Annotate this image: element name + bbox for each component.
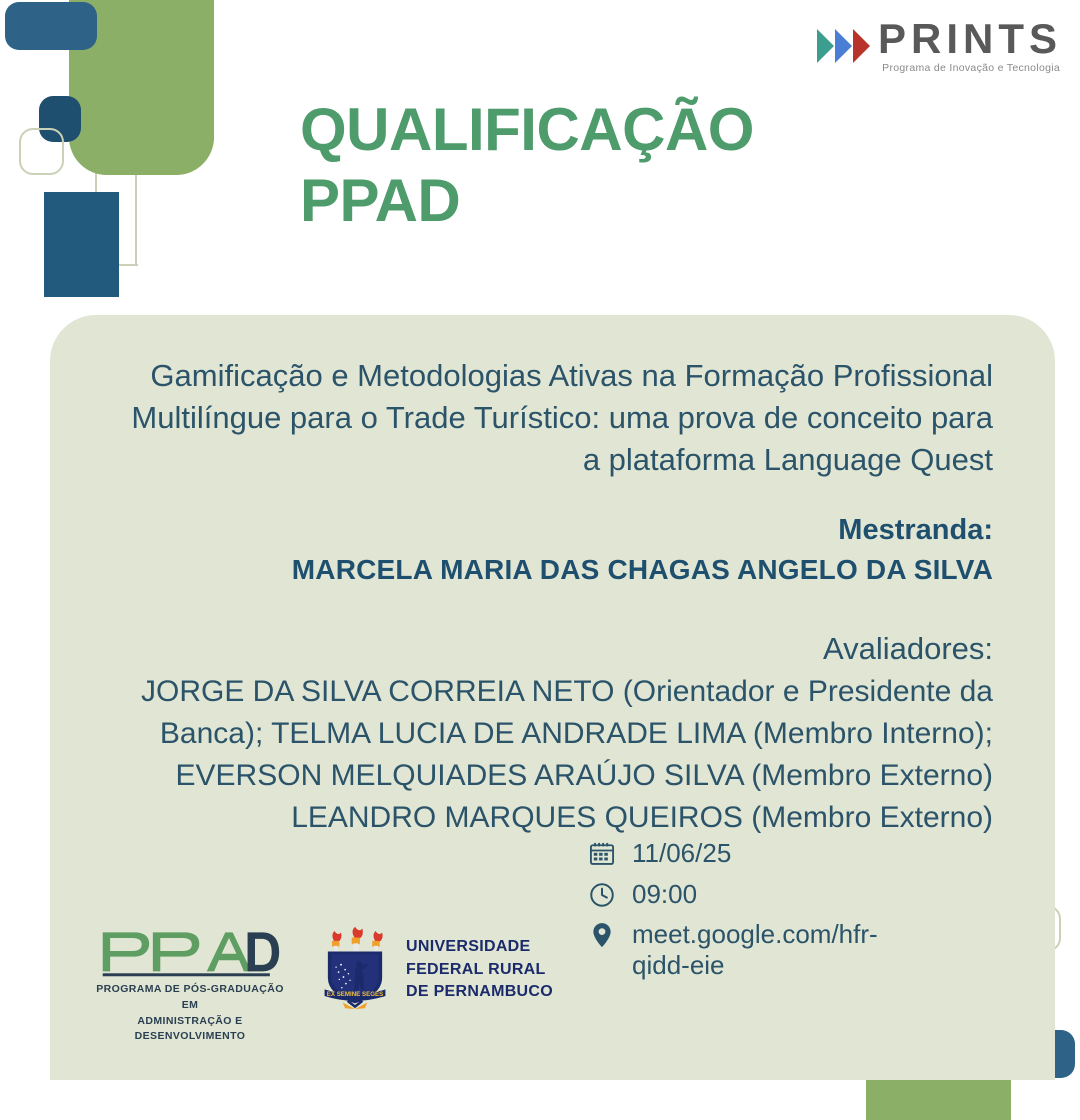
connector-line [135, 172, 137, 266]
navy-square [39, 96, 81, 142]
connector-line [98, 0, 100, 34]
connector-line [118, 264, 138, 266]
svg-text:EX SEMINE SEGES: EX SEMINE SEGES [327, 991, 383, 998]
page-title: QUALIFICAÇÃO PPAD [300, 95, 754, 237]
blue-tall-rect [44, 192, 119, 297]
ppad-logomark [90, 925, 290, 977]
detail-row-location: meet.google.com/hfr-qidd-eie [588, 919, 862, 980]
prints-name: PRINTS [878, 18, 1062, 60]
student-name: MARCELA MARIA DAS CHAGAS ANGELO DA SILVA [112, 551, 993, 589]
spacer [112, 481, 993, 511]
decorative-shapes-top-left [0, 0, 240, 310]
ufrpe-logo: EX SEMINE SEGES UNIVERSIDADE FEDERAL RUR… [318, 925, 553, 1015]
ppad-caption-line2: ADMINISTRAÇÃO E DESENVOLVIMENTO [90, 1014, 290, 1046]
outline-square [19, 128, 64, 175]
detail-row-date: 11/06/25 [588, 838, 862, 869]
prints-logo: PRINTS Programa de Inovação e Tecnologia [817, 18, 1062, 74]
event-time: 09:00 [632, 879, 697, 910]
page-title-line2: PPAD [300, 166, 754, 237]
evaluator-line: JORGE DA SILVA CORREIA NETO (Orientador … [112, 671, 993, 755]
chevron-red-icon [853, 29, 870, 63]
green-block [69, 58, 214, 175]
chevron-teal-icon [817, 29, 834, 63]
ppad-caption: PROGRAMA DE PÓS-GRADUAÇÃO EM ADMINISTRAÇ… [90, 982, 290, 1045]
clock-icon [588, 881, 616, 909]
prints-tagline: Programa de Inovação e Tecnologia [882, 63, 1060, 74]
ppad-caption-line1: PROGRAMA DE PÓS-GRADUAÇÃO EM [90, 982, 290, 1014]
blue-rounded-rect [5, 2, 97, 50]
evaluators-label: Avaliadores: [112, 628, 993, 671]
ufrpe-name: UNIVERSIDADE FEDERAL RURAL DE PERNAMBUCO [406, 936, 553, 1004]
location-pin-icon [588, 921, 616, 949]
student-label: Mestranda: [112, 511, 993, 550]
detail-row-time: 09:00 [588, 879, 862, 910]
green-block [69, 0, 214, 175]
prints-chevron-group [817, 29, 870, 63]
ufrpe-crest-icon: EX SEMINE SEGES [318, 925, 392, 1015]
evaluator-line: LEANDRO MARQUES QUEIROS (Membro Externo) [112, 797, 993, 839]
event-location[interactable]: meet.google.com/hfr-qidd-eie [632, 919, 862, 980]
evaluator-line: EVERSON MELQUIADES ARAÚJO SILVA (Membro … [112, 755, 993, 797]
connector-line [95, 172, 97, 268]
chevron-blue-icon [835, 29, 852, 63]
ufrpe-name-line3: DE PERNAMBUCO [406, 981, 553, 1004]
page-title-line1: QUALIFICAÇÃO [300, 96, 754, 163]
ppad-logo: PROGRAMA DE PÓS-GRADUAÇÃO EM ADMINISTRAÇ… [90, 925, 290, 1045]
thesis-title: Gamificação e Metodologias Ativas na For… [112, 355, 993, 481]
calendar-icon [588, 840, 616, 868]
connector-line [98, 32, 208, 34]
spacer [112, 588, 993, 628]
event-date: 11/06/25 [632, 838, 731, 869]
ufrpe-name-line1: UNIVERSIDADE [406, 936, 553, 959]
ufrpe-name-line2: FEDERAL RURAL [406, 959, 553, 982]
event-details: 11/06/25 09:00 meet.google.com/hfr-qidd-… [588, 838, 862, 981]
prints-wordmark: PRINTS Programa de Inovação e Tecnologia [878, 18, 1062, 74]
